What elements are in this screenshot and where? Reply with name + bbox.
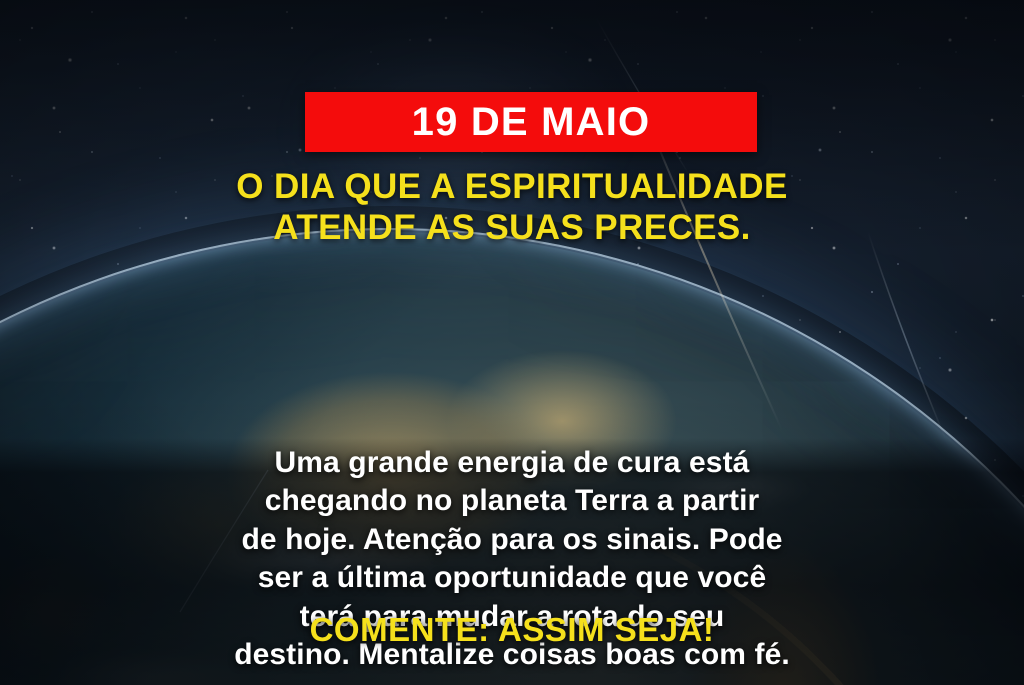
call-to-action-text: COMENTE: ASSIM SEJA! xyxy=(62,612,962,648)
headline: O DIA QUE A ESPIRITUALIDADE ATENDE AS SU… xyxy=(62,166,962,249)
date-banner: 19 DE MAIO xyxy=(305,92,757,152)
headline-line-1: O DIA QUE A ESPIRITUALIDADE xyxy=(62,166,962,207)
body-copy-line-3: de hoje. Atenção para os sinais. Pode xyxy=(52,521,972,559)
poster-content: 19 DE MAIO O DIA QUE A ESPIRITUALIDADE A… xyxy=(0,0,1024,685)
headline-line-2: ATENDE AS SUAS PRECES. xyxy=(62,207,962,248)
date-banner-text: 19 DE MAIO xyxy=(412,102,651,142)
poster-canvas: 19 DE MAIO O DIA QUE A ESPIRITUALIDADE A… xyxy=(0,0,1024,685)
body-copy-line-2: chegando no planeta Terra a partir xyxy=(52,482,972,520)
body-copy-line-4: ser a última oportunidade que você xyxy=(52,559,972,597)
body-copy-line-1: Uma grande energia de cura está xyxy=(52,444,972,482)
